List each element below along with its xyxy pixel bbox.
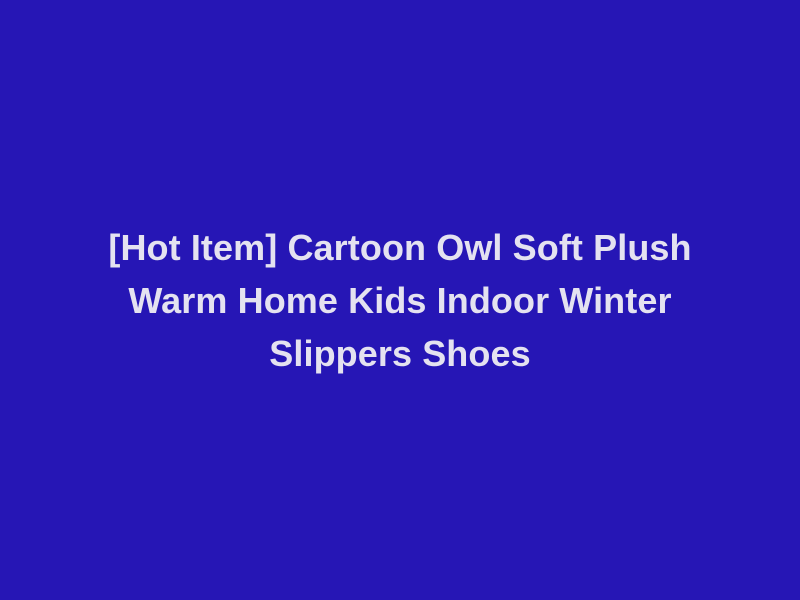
product-title: [Hot Item] Cartoon Owl Soft Plush Warm H… xyxy=(80,221,720,380)
product-title-card: [Hot Item] Cartoon Owl Soft Plush Warm H… xyxy=(0,0,800,600)
title-block: [Hot Item] Cartoon Owl Soft Plush Warm H… xyxy=(80,221,720,380)
